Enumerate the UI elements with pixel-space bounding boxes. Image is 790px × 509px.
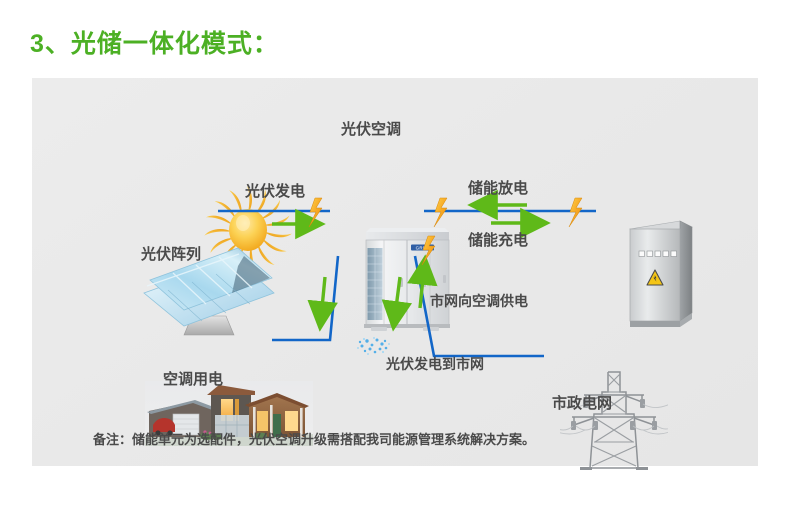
label-house-usage: 空调用电 [163,368,223,389]
svg-text:GREE: GREE [416,246,430,251]
page-title: 3、光储一体化模式： [30,24,279,60]
label-pv-array: 光伏阵列 [141,243,201,264]
label-municipal-grid: 市政电网 [552,392,612,413]
label-pv-ac: 光伏空调 [341,118,401,139]
footnote: 备注：储能单元为选配件，光伏空调升级需搭配我司能源管理系统解决方案。 [93,429,535,448]
label-flow-grid-to-ac: 市网向空调供电 [430,291,528,311]
label-flow-pv-to-grid: 光伏发电到市网 [386,354,484,374]
label-flow-storage-charge: 储能充电 [468,229,528,250]
battery-cabinet-icon [622,215,698,330]
air-conditioner-icon: GREE [359,220,456,334]
label-flow-storage-discharge: 储能放电 [468,177,528,198]
power-tower-icon [560,366,668,476]
label-flow-pv-generation: 光伏发电 [245,180,305,201]
